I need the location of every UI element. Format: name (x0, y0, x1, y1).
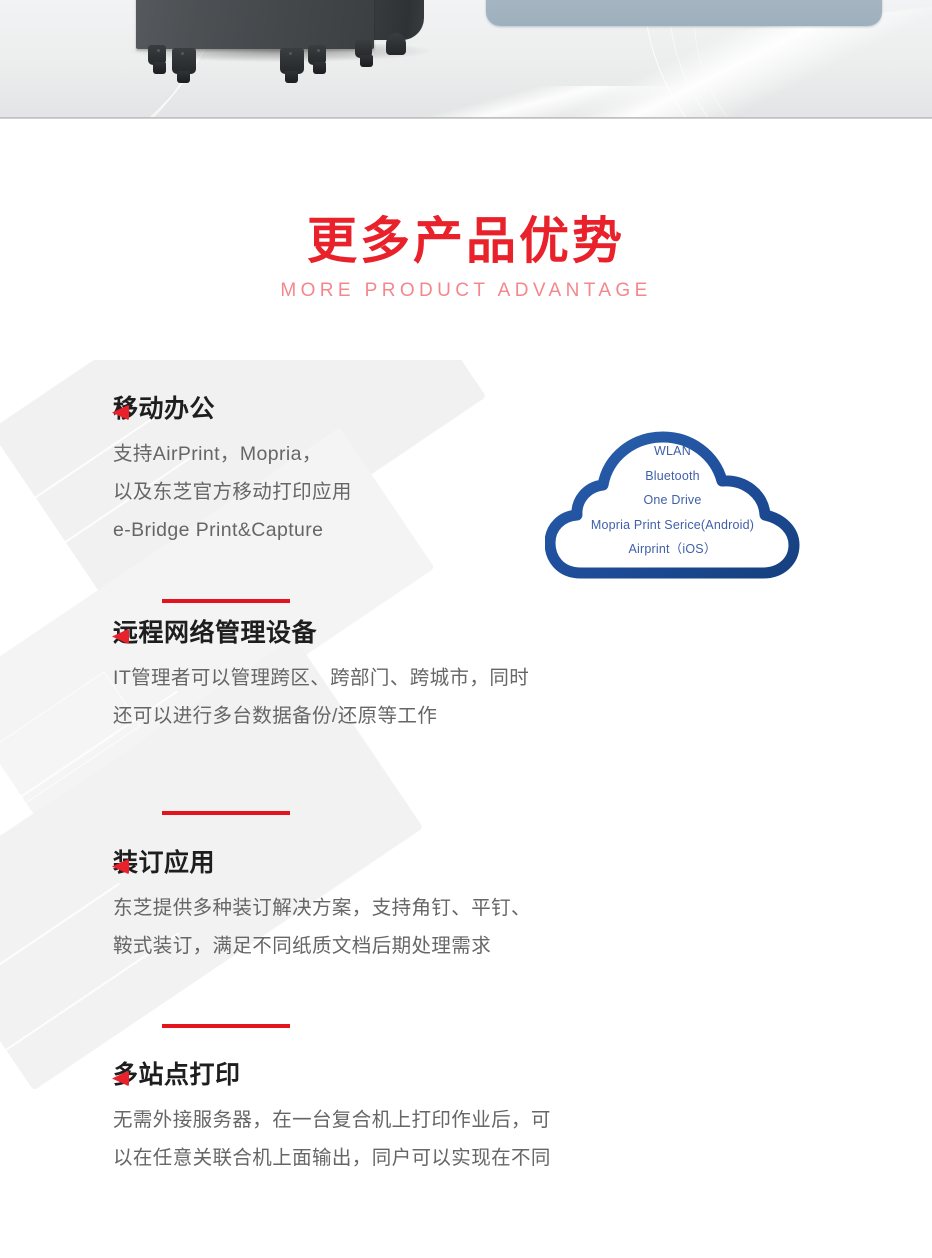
printer-caster (148, 45, 166, 65)
printer-caster (280, 48, 304, 74)
feature-item-remote-management: 远程网络管理设备 IT管理者可以管理跨区、跨部门、跨城市，同时 还可以进行多台数… (0, 616, 932, 846)
page-title: 更多产品优势 (0, 210, 932, 272)
feature-body: 无需外接服务器，在一台复合机上打印作业后，可 以在任意关联合机上面输出，同户可以… (113, 1101, 932, 1177)
feature-item-multi-site-print: 多站点打印 无需外接服务器，在一台复合机上打印作业后，可 以在任意关联合机上面输… (0, 1058, 932, 1258)
cloud-line-onedrive: One Drive (545, 488, 800, 513)
control-panel-graphic (486, 0, 882, 26)
hero-product-photo (0, 0, 932, 119)
feature-title: 移动办公 (113, 392, 932, 426)
cloud-line-wlan: WLAN (545, 439, 800, 464)
feature-body: 东芝提供多种装订解决方案，支持角钉、平钉、 鞍式装订，满足不同纸质文档后期处理需… (113, 889, 932, 965)
page-subtitle: MORE PRODUCT ADVANTAGE (0, 280, 932, 302)
feature-divider (162, 811, 290, 815)
cloud-line-mopria: Mopria Print Serice(Android) (545, 513, 800, 538)
section-heading: 更多产品优势 MORE PRODUCT ADVANTAGE (0, 210, 932, 302)
cloud-line-airprint: Airprint（iOS） (545, 537, 800, 562)
mobile-connectivity-cloud-icon: WLAN Bluetooth One Drive Mopria Print Se… (545, 405, 800, 587)
decorative-floor-highlight (115, 86, 875, 119)
cloud-line-bluetooth: Bluetooth (545, 464, 800, 489)
feature-item-binding: 装订应用 东芝提供多种装订解决方案，支持角钉、平钉、 鞍式装订，满足不同纸质文档… (0, 846, 932, 1058)
printer-caster (308, 45, 326, 65)
printer-body (136, 0, 374, 49)
printer-caster (355, 40, 372, 58)
printer-caster (172, 48, 196, 74)
feature-title: 多站点打印 (113, 1058, 932, 1092)
printer-caster (386, 33, 406, 55)
feature-title: 远程网络管理设备 (113, 616, 932, 650)
feature-body: 支持AirPrint，Mopria， 以及东芝官方移动打印应用 e-Bridge… (113, 435, 932, 549)
feature-divider (162, 599, 290, 603)
feature-divider (162, 1024, 290, 1028)
feature-body: IT管理者可以管理跨区、跨部门、跨城市，同时 还可以进行多台数据备份/还原等工作 (113, 659, 932, 735)
cloud-text-block: WLAN Bluetooth One Drive Mopria Print Se… (545, 439, 800, 562)
feature-title: 装订应用 (113, 846, 932, 880)
